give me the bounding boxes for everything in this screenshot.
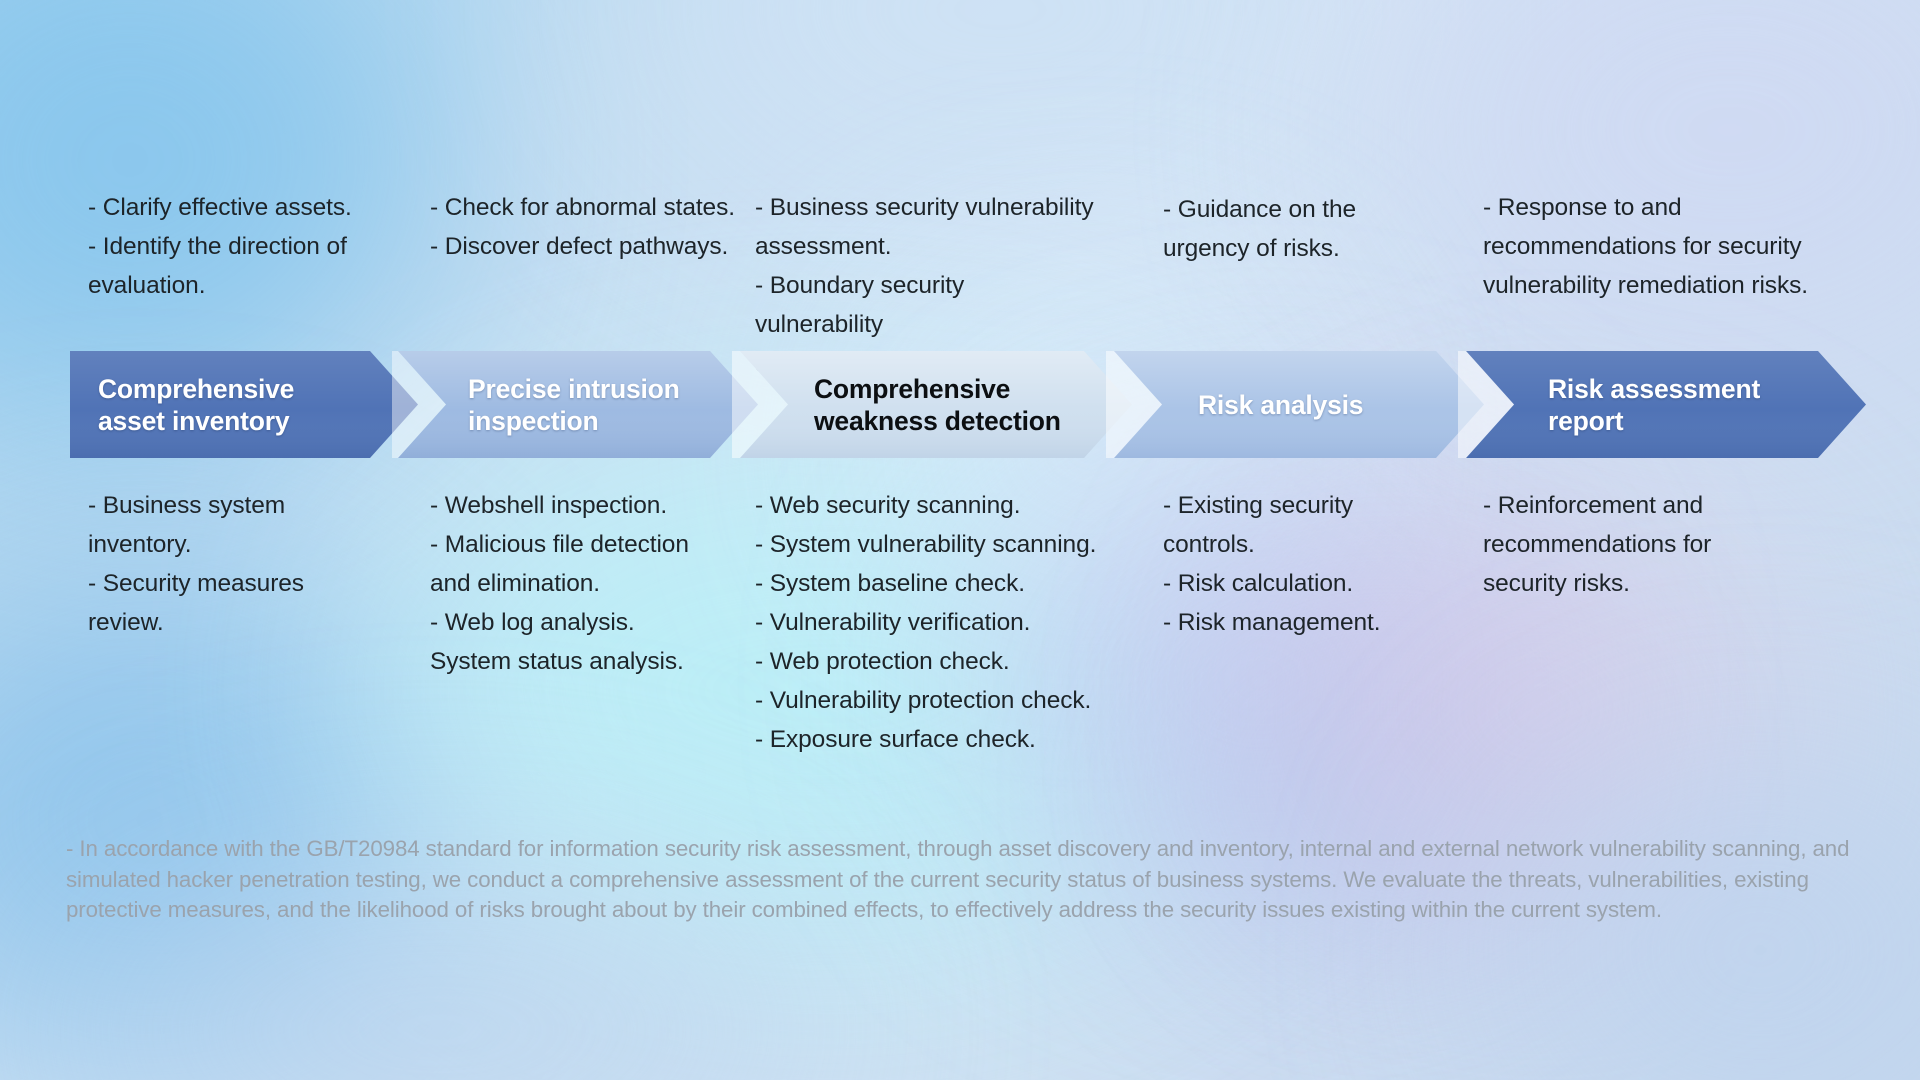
diagram-root: - Clarify effective assets. - Identify t… (0, 0, 1920, 1080)
stage-5-notes-below: - Reinforcement and recommendations for … (1483, 486, 1783, 603)
stage-2-notes-above: - Check for abnormal states. - Discover … (430, 188, 750, 266)
notes-below-row: - Business system inventory. - Security … (0, 486, 1920, 756)
stage-3-notes-below: - Web security scanning. - System vulner… (755, 486, 1115, 759)
process-chevron-band: Comprehensive asset inventory Precise in… (0, 351, 1920, 463)
chevron-stage-4[interactable]: Risk analysis (1114, 351, 1484, 458)
notes-above-row: - Clarify effective assets. - Identify t… (0, 196, 1920, 341)
chevron-stage-3[interactable]: Comprehensive weakness detection (740, 351, 1132, 458)
stage-4-notes-above: - Guidance on the urgency of risks. (1163, 190, 1413, 268)
stage-2-notes-below: - Webshell inspection. - Malicious file … (430, 486, 750, 681)
chevron-stage-2-label: Precise intrusion inspection (468, 373, 680, 437)
chevron-stage-5-label: Risk assessment report (1548, 373, 1760, 437)
stage-1-notes-above: - Clarify effective assets. - Identify t… (88, 188, 378, 305)
chevron-stage-3-label: Comprehensive weakness detection (814, 373, 1061, 437)
footer-description: - In accordance with the GB/T20984 stand… (66, 834, 1866, 926)
chevron-stage-4-label: Risk analysis (1198, 389, 1363, 421)
chevron-stage-1[interactable]: Comprehensive asset inventory (70, 351, 418, 458)
chevron-stage-2[interactable]: Precise intrusion inspection (398, 351, 758, 458)
stage-5-notes-above: - Response to and recommendations for se… (1483, 188, 1813, 305)
chevron-stage-1-label: Comprehensive asset inventory (98, 373, 294, 437)
stage-1-notes-below: - Business system inventory. - Security … (88, 486, 378, 642)
stage-4-notes-below: - Existing security controls. - Risk cal… (1163, 486, 1413, 642)
chevron-stage-5[interactable]: Risk assessment report (1466, 351, 1866, 458)
